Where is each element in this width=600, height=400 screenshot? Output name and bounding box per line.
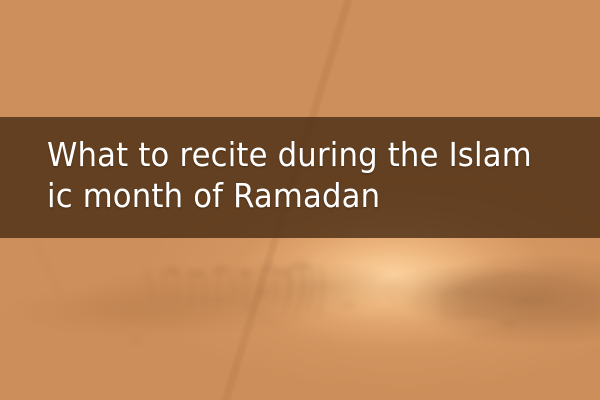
title-banner: What to recite during the Islamic month … [0,117,600,238]
page-title: What to recite during the Islamic month … [47,134,540,216]
title-card: What to recite during the Islamic month … [0,0,600,400]
